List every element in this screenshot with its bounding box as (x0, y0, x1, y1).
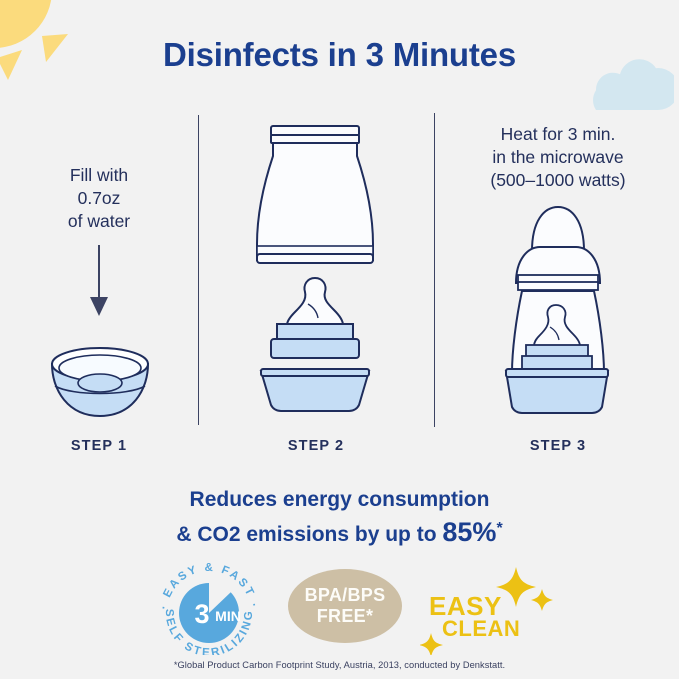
three-minute-seal-icon: · EASY & FAST · SELF STERILIZING 3 MIN 3… (150, 563, 268, 655)
down-arrow-icon (79, 245, 119, 318)
column-divider-1 (198, 115, 199, 425)
footnote: *Global Product Carbon Footprint Study, … (0, 660, 679, 670)
svg-text:MIN: MIN (215, 608, 241, 624)
svg-text:3: 3 (194, 599, 209, 629)
step-1-column: Fill with 0.7oz of water STEP 1 (8, 120, 190, 430)
easy-clean-badge: EASY CLEAN (420, 563, 560, 655)
step-2-caption: STEP 2 (208, 438, 424, 454)
claim-highlight: 85% (442, 517, 496, 547)
column-divider-2 (434, 113, 435, 427)
claim-line-1: Reduces energy consumption (0, 485, 679, 514)
step-2-column: STEP 2 (208, 113, 424, 430)
assembled-bottle-inverted-illustration (490, 201, 626, 426)
bpa-line-2: FREE* (317, 606, 374, 627)
energy-claim: Reduces energy consumption & CO2 emissio… (0, 485, 679, 549)
disassembled-bottle-illustration (235, 120, 395, 425)
claim-line-2: & CO2 emissions by up to 85%* (0, 514, 679, 549)
step-3-instruction: Heat for 3 min. in the microwave (500–10… (444, 123, 672, 192)
page-title: Disinfects in 3 Minutes (0, 36, 679, 74)
claim-asterisk: * (496, 520, 502, 537)
bowl-with-water-illustration (46, 342, 154, 424)
step-1-instruction: Fill with 0.7oz of water (8, 164, 190, 233)
bpa-line-1: BPA/BPS (305, 585, 386, 606)
easy-clean-line-2: CLEAN (442, 616, 520, 642)
step-1-caption: STEP 1 (8, 438, 190, 454)
step-3-caption: STEP 3 (444, 438, 672, 454)
claim-prefix: & CO2 emissions by up to (176, 523, 442, 546)
step-3-column: Heat for 3 min. in the microwave (500–10… (444, 113, 672, 430)
infographic-canvas: Disinfects in 3 Minutes Fill with 0.7oz … (0, 0, 679, 679)
bpa-bps-free-seal-icon: BPA/BPS FREE* (288, 569, 402, 643)
badges-row: · EASY & FAST · SELF STERILIZING 3 MIN 3… (0, 563, 679, 655)
